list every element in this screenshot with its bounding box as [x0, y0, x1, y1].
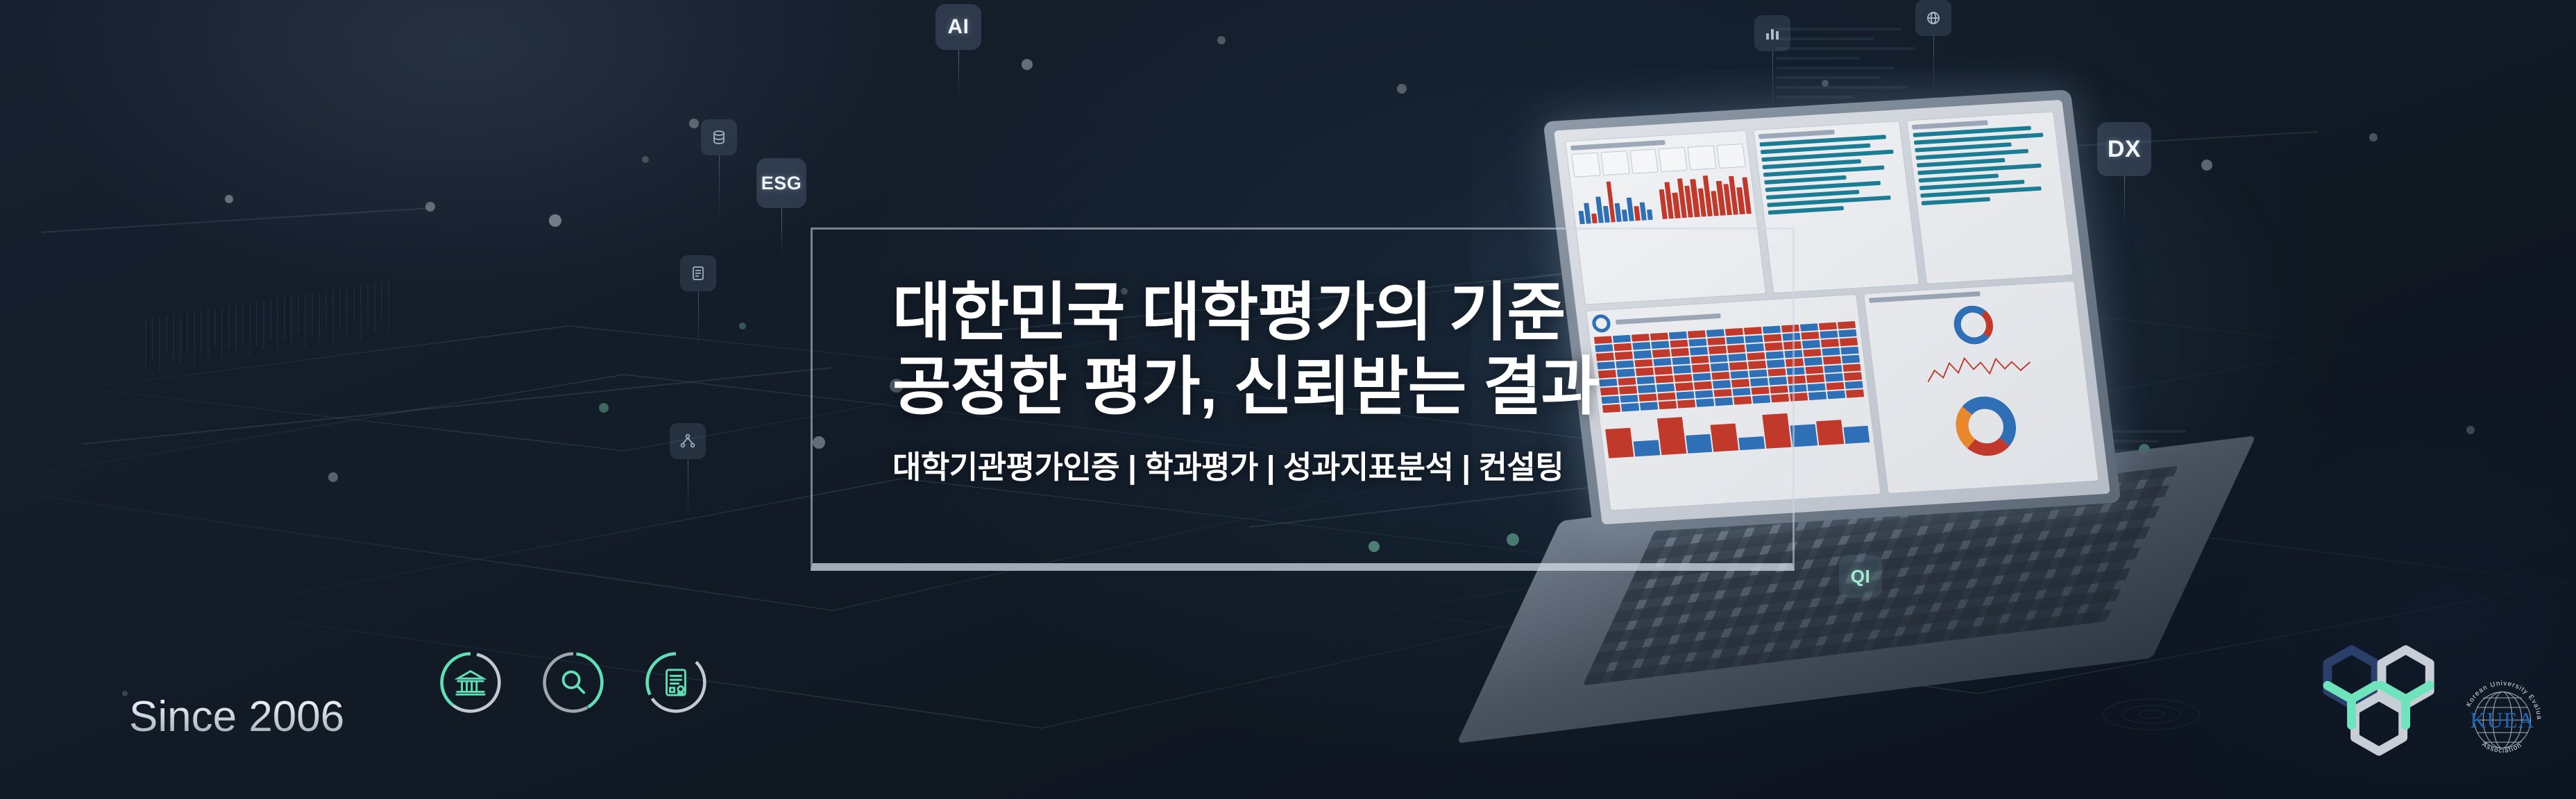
kuea-ring-text-bottom: Association	[2480, 741, 2523, 755]
feature-icon-search[interactable]	[541, 651, 605, 714]
page-title-line-1: 대한민국 대학평가의 기준	[892, 276, 1774, 350]
database-icon	[711, 129, 727, 146]
kpi-tile	[1629, 149, 1659, 174]
brand-logo-group: KUEA Korean University Evaluation Associ…	[2322, 642, 2547, 760]
bar-chart-red	[1657, 171, 1752, 219]
kuea-globe-logo: KUEA Korean University Evaluation Associ…	[2458, 674, 2547, 763]
kuea-hexagon-logo	[2322, 642, 2446, 760]
document-icon	[690, 265, 706, 282]
dashboard-card-hbars-2	[1907, 111, 2074, 284]
network-badge-icon	[670, 423, 706, 459]
bar-chart-icon	[1764, 25, 1781, 42]
kpi-tile	[1571, 153, 1600, 178]
tag-qi[interactable]: QI	[1839, 555, 1882, 598]
progress-ring	[644, 651, 708, 714]
card-title-bar	[1759, 130, 1834, 139]
page-title-line-2: 공정한 평가, 신뢰받는 결과	[892, 350, 1774, 424]
horizontal-bar-list	[1759, 134, 1905, 214]
kpi-tile	[1688, 145, 1717, 170]
horizontal-bar-list	[1913, 125, 2059, 205]
tag-esg[interactable]: ESG	[756, 158, 806, 208]
document-badge-icon	[680, 255, 716, 291]
chart-badge-icon	[1754, 15, 1790, 51]
line-chart	[1876, 343, 2082, 394]
kuea-wordmark: KUEA	[2470, 707, 2534, 732]
hero-banner: AI ESG DX QI 대한민국 대학평가의 기준 공정한 평가, 신뢰받는 …	[0, 0, 2576, 799]
tag-dx[interactable]: DX	[2097, 122, 2151, 176]
kpi-tile	[1717, 144, 1746, 169]
donut-chart-large	[1953, 395, 2019, 458]
feature-icon-institution[interactable]	[439, 651, 502, 714]
bar-chart-blue	[1575, 177, 1652, 224]
donut-chart-small	[1952, 304, 1996, 345]
progress-ring	[439, 651, 502, 714]
kpi-tile	[1600, 151, 1629, 175]
since-label: Since 2006	[129, 692, 344, 741]
kpi-tile	[1659, 147, 1688, 172]
hero-subtitle: 대학기관평가인증 | 학과평가 | 성과지표분석 | 컨설팅	[892, 442, 1774, 487]
globe-icon	[1925, 10, 1942, 26]
feature-icon-certificate[interactable]	[644, 651, 708, 714]
tag-ai[interactable]: AI	[935, 4, 981, 50]
feature-icon-row	[439, 651, 708, 714]
card-title-bar	[1869, 291, 1980, 303]
network-icon	[679, 433, 696, 449]
globe-badge-icon	[1915, 0, 1951, 36]
dashboard-card-donuts	[1863, 280, 2099, 494]
progress-ring	[541, 651, 605, 714]
database-badge-icon	[701, 119, 737, 155]
card-title-bar	[1912, 120, 1988, 130]
hero-title-block: 대한민국 대학평가의 기준 공정한 평가, 신뢰받는 결과 대학기관평가인증 |…	[892, 276, 1774, 487]
